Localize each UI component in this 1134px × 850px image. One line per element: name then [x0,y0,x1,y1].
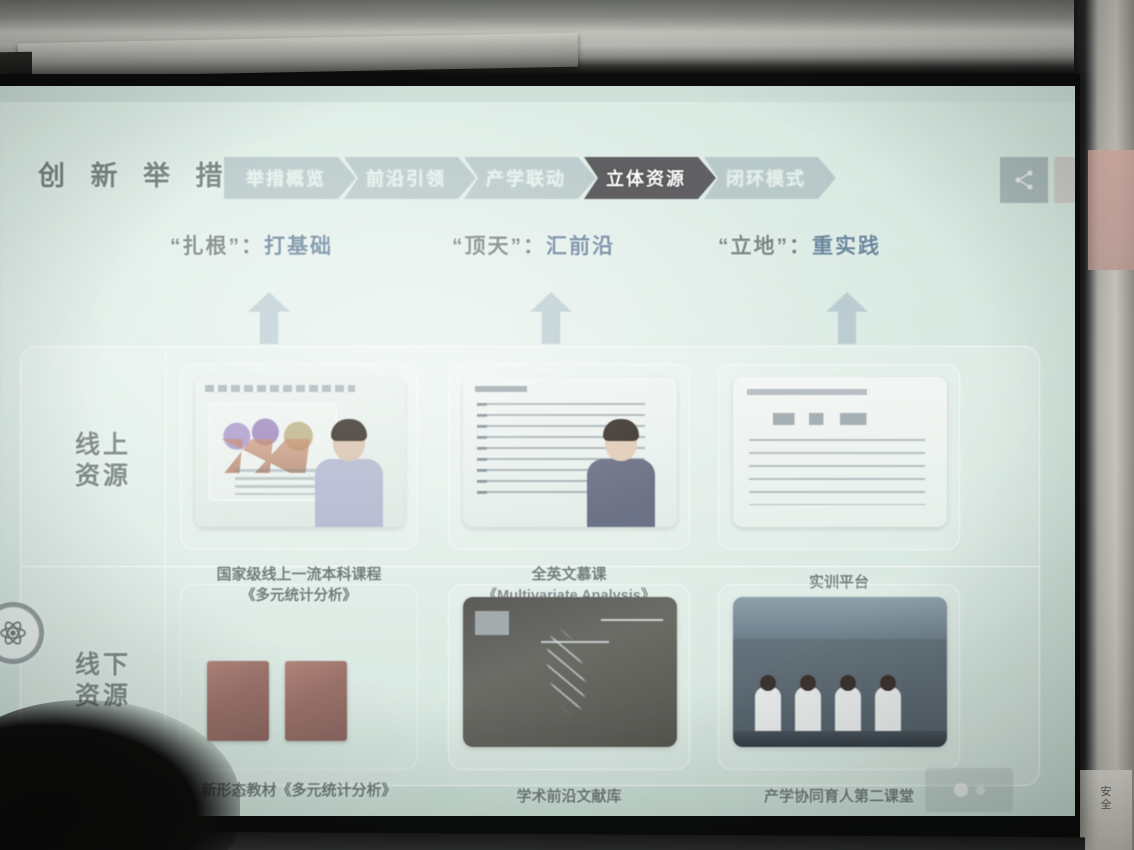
presenter-body [315,459,383,527]
worker-head [800,675,816,691]
slide-thumb-bullets [477,403,487,499]
column-heading-2-accent: 汇前沿 [546,235,615,258]
caption-offline-2-main: 学术前沿文献库 [448,786,690,808]
up-arrow-icon-3 [826,292,868,344]
worker-head [880,675,896,691]
nav-item-frontier[interactable]: 前沿引领 [344,157,476,199]
caption-offline-3-main: 产学协同育人第二课堂 [718,786,960,808]
up-arrow-icon-2 [530,292,572,344]
share-icon [1012,168,1036,192]
caption-offline-1-main: 新形态教材《多元统计分析》 [180,780,418,802]
slide-thumb-title [475,386,527,392]
row-label-online: 线上 资源 [48,430,158,493]
worker-figure [795,687,821,735]
nav-item-closedloop[interactable]: 闭环模式 [704,157,836,199]
factory-workshop-photo [733,597,947,747]
screen-bottom-bar [0,831,1085,850]
presenter-figure [311,419,387,527]
nav-item-resources[interactable]: 立体资源 [584,157,716,199]
caption-offline-1: 新形态教材《多元统计分析》 [180,780,418,802]
panel-label-divider [165,346,166,786]
column-heading-2-sep: ： [523,235,546,258]
section-nav[interactable]: 举措概览 前沿引领 产学联动 立体资源 闭环模式 [224,157,836,199]
platform-formula [773,413,893,425]
english-mooc-slide-thumbnail [463,377,677,527]
card-offline-3[interactable] [718,584,960,770]
projection-screen-frame: 创 新 举 措 举措概览 前沿引领 产学联动 立体资源 闭环模式 [0,74,1080,844]
page-title: 创 新 举 措 [38,154,232,193]
room-right-wall [1074,0,1134,850]
caption-online-2-main: 全英文慕课 [448,564,690,586]
course-video-thumbnail [195,377,405,527]
caption-online-1-main: 国家级线上一流本科课程 [180,564,418,586]
column-heading-1: “扎根”：打基础 [170,230,333,260]
up-arrow-icon-1 [248,292,290,344]
caption-offline-3: 产学协同育人第二课堂 [718,786,960,808]
card-online-1[interactable] [180,364,418,550]
presenter-body [587,459,655,527]
column-headings: “扎根”：打基础 “顶天”：汇前沿 “立地”：重实践 [0,230,1075,272]
projection-screen-surface: 创 新 举 措 举措概览 前沿引领 产学联动 立体资源 闭环模式 [0,86,1075,816]
worker-figure [875,687,901,735]
worker-figure [755,687,781,735]
card-offline-1[interactable] [180,584,418,770]
dna-helix-screen [463,597,677,747]
textbook-covers [201,655,361,747]
workbench [733,731,947,747]
nav-tail-block [1054,157,1075,203]
presenter-figure [583,419,659,527]
presenter-hair [331,419,367,441]
training-platform-screenshot [733,377,947,527]
thumb-header-bar [205,385,355,392]
column-heading-3-accent: 重实践 [812,235,881,258]
wall-notice: 安全 [1080,770,1132,850]
card-offline-2[interactable] [448,584,690,770]
book-cover [285,661,347,741]
row-label-offline-line2: 资源 [48,681,158,712]
dna-helix-icon [500,603,632,741]
column-heading-2-quote: “顶天” [452,235,523,258]
caption-offline-2: 学术前沿文献库 [448,786,690,808]
row-label-online-line2: 资源 [48,461,158,492]
column-heading-3-quote: “立地” [718,235,789,258]
row-label-online-line1: 线上 [48,430,158,461]
thumb-caption-lines [235,469,321,495]
column-heading-3-sep: ： [789,235,812,258]
row-label-offline: 线下 资源 [48,650,158,713]
presenter-hair [603,419,639,441]
logo-watermark [925,768,1013,812]
column-heading-3: “立地”：重实践 [718,230,881,260]
worker-head [760,675,776,691]
column-heading-2: “顶天”：汇前沿 [452,230,615,260]
column-heading-1-accent: 打基础 [264,235,333,258]
watermark-dot [954,783,968,797]
platform-title-bar [747,389,867,395]
worker-head [840,675,856,691]
column-heading-1-quote: “扎根” [170,235,241,258]
column-heading-1-sep: ： [241,235,264,258]
workshop-ceiling [733,597,947,639]
photographed-slide-scene: 安全 创 新 举 措 举措概览 前沿引领 产学联动 立体资源 闭环模式 [0,0,1134,850]
atom-icon [0,617,29,649]
card-online-3[interactable] [718,364,960,550]
wall-poster [1088,150,1134,270]
share-button[interactable] [1000,157,1048,203]
nav-item-overview[interactable]: 举措概览 [224,157,356,199]
book-cover [207,661,269,741]
worker-figure [835,687,861,735]
watermark-dot [976,786,985,795]
slide-content: 创 新 举 措 举措概览 前沿引领 产学联动 立体资源 闭环模式 [0,102,1075,816]
book-cover-group [201,655,361,747]
card-online-2[interactable] [448,364,690,550]
nav-item-industry[interactable]: 产学联动 [464,157,596,199]
platform-rows [749,439,925,505]
row-label-offline-line1: 线下 [48,650,158,681]
